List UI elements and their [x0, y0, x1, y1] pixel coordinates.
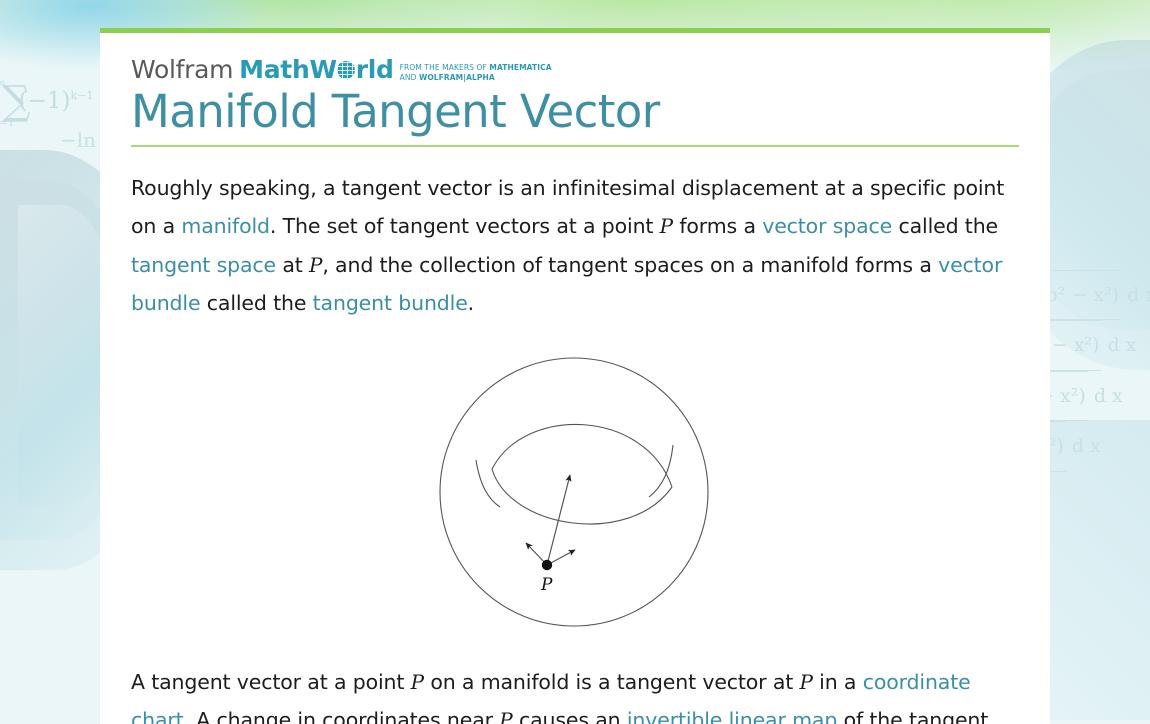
math-variable-p: P [309, 253, 322, 277]
background-formula-ln: −ln [60, 128, 96, 152]
background-formula-exponent: k−1 [70, 89, 93, 102]
background-formula-differential: d x [1127, 284, 1150, 306]
tangent-vector-figure: P [131, 347, 1019, 637]
outro-text-3: in a [813, 670, 863, 694]
intro-text-7: called the [200, 291, 312, 315]
background-formula-differential: d x [1072, 435, 1101, 457]
outro-paragraph: A tangent vector at a point P on a manif… [131, 663, 1019, 724]
tangent-vector-diagram: P [430, 347, 720, 637]
background-formula-line: ² − x²) d x [1036, 320, 1150, 370]
outro-text-6: of the tangent [837, 708, 988, 724]
tagline-plain-2: and [400, 73, 419, 82]
outro-text-1: A tangent vector at a point [131, 670, 411, 694]
title-divider [131, 145, 1019, 147]
globe-icon [337, 61, 355, 79]
link-tangent-bundle[interactable]: tangent bundle [313, 291, 468, 315]
saddle-upper-arc [492, 424, 672, 487]
math-variable-p: P [660, 214, 673, 238]
content-card: Wolfram MathWrld From the makers of Math… [100, 28, 1050, 724]
logo-mathworld-text: MathWrld [239, 57, 393, 82]
logo-mathworld-part-a: MathW [239, 57, 337, 82]
background-formula-line: (b² − x²) d x [1036, 270, 1150, 320]
intro-text-4: called the [892, 214, 998, 238]
point-p-label: P [540, 575, 553, 595]
tagline-line-1: From the makers of Mathematica [400, 63, 552, 72]
math-variable-p: P [499, 708, 512, 724]
background-formula-integral-column: (b² − x²) d x ² − x²) d x − x²) d x x²) … [1036, 270, 1150, 472]
background-formula-line: − x²) d x [1036, 371, 1150, 421]
logo-mathworld-part-b: rld [356, 57, 394, 82]
site-logo[interactable]: Wolfram MathWrld From the makers of Math… [131, 57, 1019, 82]
tagline-line-2: and Wolfram|Alpha [400, 73, 495, 82]
point-p-marker [542, 560, 552, 570]
tagline-bold-wolframalpha: Wolfram|Alpha [419, 73, 495, 82]
intro-text-8: . [468, 291, 474, 315]
link-vector-space[interactable]: vector space [762, 214, 892, 238]
page-title: Manifold Tangent Vector [131, 88, 1019, 137]
saddle-left-tail [476, 460, 500, 507]
tagline-bold-mathematica: Mathematica [489, 63, 551, 72]
outro-text-4: . A change in coordinates near [184, 708, 500, 724]
math-variable-p: P [800, 670, 813, 694]
background-formula-differential: d x [1094, 385, 1123, 407]
outro-text-5: causes an [513, 708, 627, 724]
intro-text-2: . The set of tangent vectors at a point [270, 214, 660, 238]
link-tangent-space[interactable]: tangent space [131, 253, 276, 277]
intro-text-6: , and the collection of tangent spaces o… [322, 253, 938, 277]
intro-text-5: at [276, 253, 309, 277]
outro-text-2: on a manifold is a tangent vector at [424, 670, 800, 694]
logo-tagline: From the makers of Mathematica and Wolfr… [400, 57, 552, 82]
tagline-plain-1: From the makers of [400, 63, 490, 72]
link-manifold[interactable]: manifold [181, 214, 270, 238]
logo-wolfram-text: Wolfram [131, 57, 233, 82]
link-invertible-linear-map[interactable]: invertible linear map [627, 708, 837, 724]
saddle-lower-arc [492, 469, 672, 524]
normal-vector-arrow [547, 475, 570, 565]
intro-text-3: forms a [673, 214, 762, 238]
math-variable-p: P [411, 670, 424, 694]
intro-paragraph: Roughly speaking, a tangent vector is an… [131, 169, 1019, 323]
background-formula-body: (−1) [19, 88, 71, 114]
background-sigma-limit-upper: ∞ [0, 76, 6, 89]
background-sigma-limit-lower: k=1 [0, 116, 15, 129]
background-formula-differential: d x [1108, 334, 1137, 356]
saddle-right-tail [649, 445, 673, 497]
background-formula-line: x²) d x [1036, 421, 1150, 471]
